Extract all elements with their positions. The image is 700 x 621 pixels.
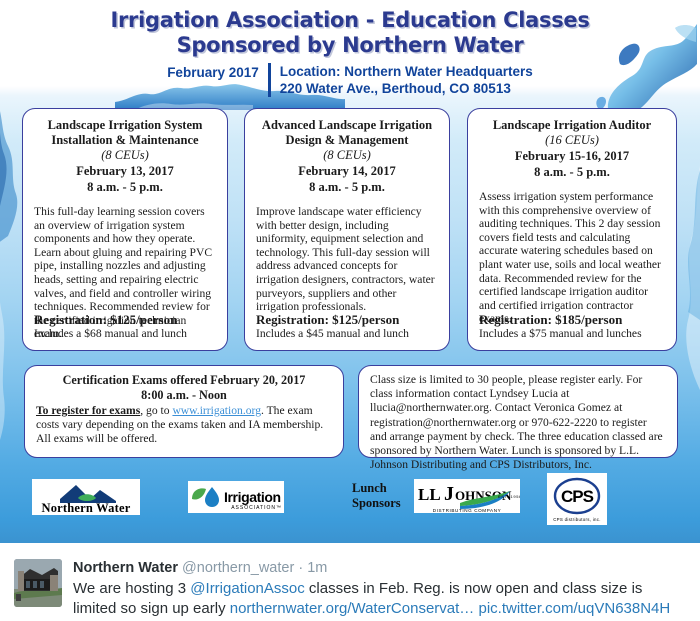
llj-subtext: DISTRIBUTING COMPANY [433, 508, 502, 513]
class-registration-includes: Includes a $45 manual and lunch [256, 327, 438, 341]
certification-exams-box: Certification Exams offered February 20,… [24, 365, 344, 458]
flyer-location-line1: Location: Northern Water Headquarters [280, 63, 533, 80]
class-registration-price: Registration: $125/person [34, 312, 216, 327]
ll-johnson-logo: LL J OHNSON EST. 1956 DISTRIBUTING COMPA… [414, 479, 520, 513]
exam-title: Certification Exams offered February 20,… [36, 373, 332, 388]
exam-body: To register for exams, go to www.irrigat… [36, 404, 332, 446]
exam-time: 8:00 a.m. - Noon [36, 388, 332, 403]
flyer-image: Irrigation Association - Education Class… [0, 0, 700, 543]
ll-johnson-logo-graphic: LL J OHNSON EST. 1956 DISTRIBUTING COMPA… [414, 479, 520, 513]
irrigation-association-logo: Irrigation ASSOCIATION™ [188, 481, 284, 513]
tweet-pic-link[interactable]: pic.twitter.com/uqVN638N4H [478, 600, 670, 617]
llj-j-text: J [444, 483, 454, 505]
avatar-building-image [14, 559, 62, 607]
exam-register-lead: To register for exams [36, 404, 140, 417]
class-date: February 15-16, 2017 [479, 148, 665, 164]
cps-logo-graphic: CPS CPS distributors, inc. [547, 473, 607, 525]
llj-est-text: EST. 1956 [498, 494, 520, 499]
flyer-date: February 2017 [167, 63, 268, 81]
irrigation-org-link[interactable]: www.irrigation.org [172, 404, 261, 417]
class-card-irrigation-auditor: Landscape Irrigation Auditor (16 CEUs) F… [467, 108, 677, 351]
northern-water-logo: Northern Water [32, 479, 140, 515]
class-time: 8 a.m. - 5 p.m. [34, 179, 216, 195]
class-card-header: Landscape Irrigation System Installation… [34, 118, 216, 195]
class-time: 8 a.m. - 5 p.m. [479, 164, 665, 180]
class-registration-price: Registration: $125/person [256, 312, 438, 327]
flyer-title: Irrigation Association - Education Class… [0, 8, 700, 33]
tweet-text-part1: We are hosting 3 [73, 580, 190, 597]
tweet-link-northernwater[interactable]: northernwater.org/WaterConservat… [230, 600, 475, 617]
tweet-container: Northern Water @northern_water · 1m We a… [0, 543, 700, 621]
class-title-line1: Advanced Landscape Irrigation [256, 118, 438, 133]
tweet-timestamp[interactable]: 1m [307, 560, 327, 576]
tweet-text: We are hosting 3 @IrrigationAssoc classe… [73, 579, 686, 619]
flyer-subtitle: Sponsored by Northern Water [0, 33, 700, 58]
lunch-sponsors-line1: Lunch [352, 481, 401, 496]
tweet-mention-irrigationassoc[interactable]: @IrrigationAssoc [190, 580, 304, 597]
class-registration-includes: Includes a $68 manual and lunch [34, 327, 216, 341]
class-registration-block: Registration: $125/person Includes a $45… [256, 312, 438, 341]
class-time: 8 a.m. - 5 p.m. [256, 179, 438, 195]
llj-ll-text: LL [418, 485, 441, 504]
class-description: Improve landscape water efficiency with … [256, 205, 438, 314]
lunch-sponsors-line2: Sponsors [352, 496, 401, 511]
class-description: Assess irrigation system performance wit… [479, 190, 665, 326]
class-registration-price: Registration: $185/person [479, 312, 665, 327]
flyer-location: Location: Northern Water Headquarters 22… [268, 63, 533, 97]
class-title-line2: Installation & Maintenance [34, 133, 216, 148]
class-ceus: (16 CEUs) [479, 133, 665, 148]
class-ceus: (8 CEUs) [256, 148, 438, 163]
class-card-header: Landscape Irrigation Auditor (16 CEUs) F… [479, 118, 665, 180]
class-title-line2: Design & Management [256, 133, 438, 148]
class-title-line1: Landscape Irrigation Auditor [479, 118, 665, 133]
tweet-separator: · [298, 560, 303, 576]
flyer-header-info: February 2017 Location: Northern Water H… [0, 63, 700, 97]
cps-distributors-logo: CPS CPS distributors, inc. [547, 473, 607, 525]
tweet-header: Northern Water @northern_water · 1m [73, 559, 686, 577]
northern-water-logo-text: Northern Water [41, 501, 130, 515]
northern-water-logo-graphic: Northern Water [32, 479, 140, 515]
exam-body-before-link: , go to [140, 404, 172, 417]
class-notes-box: Class size is limited to 30 people, plea… [358, 365, 678, 458]
irrigation-association-logo-graphic: Irrigation ASSOCIATION™ [188, 481, 284, 513]
class-date: February 14, 2017 [256, 163, 438, 179]
class-card-advanced-design-management: Advanced Landscape Irrigation Design & M… [244, 108, 450, 351]
tweet-handle[interactable]: @northern_water [182, 560, 294, 576]
cps-logo-subtext: CPS distributors, inc. [553, 517, 601, 522]
class-registration-block: Registration: $125/person Includes a $68… [34, 312, 216, 341]
cps-logo-text: CPS [561, 487, 594, 506]
class-date: February 13, 2017 [34, 163, 216, 179]
lunch-sponsors-label: Lunch Sponsors [352, 481, 401, 511]
irrigation-logo-subtext: ASSOCIATION™ [231, 505, 282, 511]
class-ceus: (8 CEUs) [34, 148, 216, 163]
tweet-body: Northern Water @northern_water · 1m We a… [62, 559, 686, 621]
irrigation-logo-text: Irrigation [224, 489, 281, 505]
flyer-location-line2: 220 Water Ave., Berthoud, CO 80513 [280, 80, 533, 97]
class-registration-block: Registration: $185/person Includes a $75… [479, 312, 665, 341]
tweet-display-name[interactable]: Northern Water [73, 560, 178, 576]
class-registration-includes: Includes a $75 manual and lunches [479, 327, 665, 341]
class-title-line1: Landscape Irrigation System [34, 118, 216, 133]
class-card-installation-maintenance: Landscape Irrigation System Installation… [22, 108, 228, 351]
class-card-header: Advanced Landscape Irrigation Design & M… [256, 118, 438, 195]
class-notes-text: Class size is limited to 30 people, plea… [370, 373, 666, 472]
avatar[interactable] [14, 559, 62, 607]
